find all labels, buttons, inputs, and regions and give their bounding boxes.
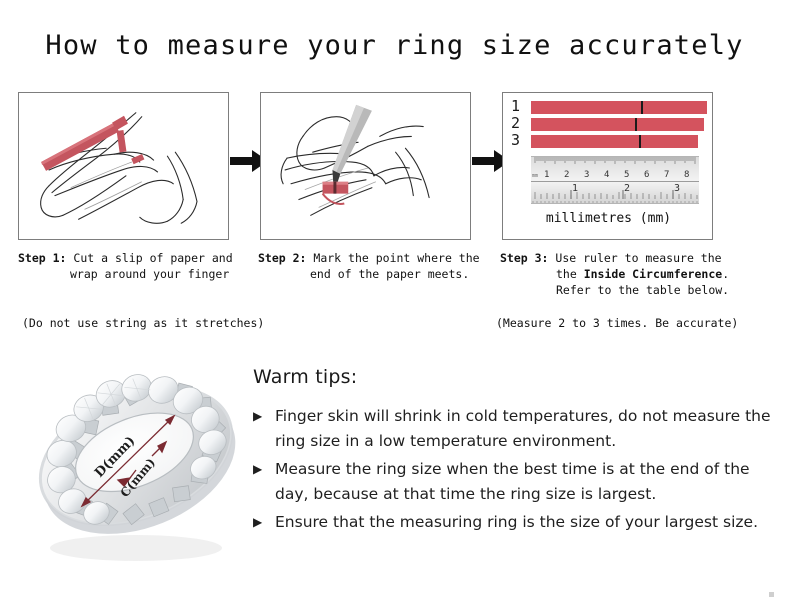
caption-step-1: Step 1: Cut a slip of paper and wrap aro… <box>18 250 253 282</box>
step-3-line2-emphasis: Inside Circumference <box>584 267 722 281</box>
note-step-3: (Measure 2 to 3 times. Be accurate) <box>496 316 738 330</box>
step-1-line1: Cut a slip of paper and <box>73 251 232 265</box>
svg-text:mm: mm <box>532 173 538 179</box>
svg-text:4: 4 <box>604 170 609 180</box>
strip-row: 1 <box>511 101 707 115</box>
tip-item: ▶ Finger skin will shrink in cold temper… <box>253 404 773 454</box>
svg-text:5: 5 <box>624 170 629 180</box>
warm-tips-section: Warm tips: ▶ Finger skin will shrink in … <box>253 366 773 538</box>
step-2-label: Step 2: <box>258 251 306 265</box>
step-3-line2-prefix: the <box>556 267 584 281</box>
bullet-triangle-icon: ▶ <box>253 404 262 429</box>
strip-row: 3 <box>511 135 707 149</box>
panel-step-3: 1 2 3 <box>502 92 713 240</box>
svg-text:1: 1 <box>544 170 549 180</box>
strip-bar <box>531 118 704 131</box>
step-3-line3: Refer to the table below. <box>500 282 780 298</box>
caption-step-3: Step 3: Use ruler to measure the the Ins… <box>500 250 780 298</box>
svg-text:7: 7 <box>664 170 669 180</box>
panel-step-1 <box>18 92 229 240</box>
strip-bar <box>531 101 707 114</box>
tip-text: Ensure that the measuring ring is the si… <box>275 513 758 531</box>
page-title: How to measure your ring size accurately <box>0 30 789 61</box>
tip-item: ▶ Ensure that the measuring ring is the … <box>253 510 773 535</box>
caption-step-2: Step 2: Mark the point where the end of … <box>258 250 493 282</box>
svg-text:2: 2 <box>624 183 630 194</box>
tip-text: Measure the ring size when the best time… <box>275 460 750 503</box>
step-3-line2: the Inside Circumference. <box>500 266 780 282</box>
strip-mark <box>635 118 637 131</box>
panel-step-2 <box>260 92 471 240</box>
strip-row: 2 <box>511 118 707 132</box>
steps-row: 1 2 3 <box>18 92 773 242</box>
ruler-unit-caption: millimetres (mm) <box>503 211 713 226</box>
step-3-label: Step 3: <box>500 251 548 265</box>
tip-item: ▶ Measure the ring size when the best ti… <box>253 457 773 507</box>
step-1-label: Step 1: <box>18 251 66 265</box>
strip-number: 3 <box>511 132 527 148</box>
paper-band-red <box>323 182 349 204</box>
corner-artifact <box>769 592 774 597</box>
step-3-line1: Use ruler to measure the <box>555 251 721 265</box>
strip-number: 2 <box>511 115 527 131</box>
svg-text:2: 2 <box>564 170 569 180</box>
paper-strip-red <box>41 116 144 171</box>
step-2-line2: end of the paper meets. <box>258 266 493 282</box>
ruler-imperial-scale: 123 <box>531 181 699 204</box>
warm-tips-heading: Warm tips: <box>253 366 773 388</box>
svg-text:6: 6 <box>644 170 649 180</box>
step-1-line2: wrap around your finger <box>18 266 253 282</box>
tip-text: Finger skin will shrink in cold temperat… <box>275 407 771 450</box>
eternity-ring-photo: D(mm) C(mm) <box>24 352 250 572</box>
ruler-metric-scale: 123 456 78 mm <box>531 157 699 181</box>
measured-strips-group: 1 2 3 <box>511 101 707 152</box>
strip-number: 1 <box>511 98 527 114</box>
step-2-line1: Mark the point where the <box>313 251 479 265</box>
hand-marking-paper-with-pen-sketch <box>261 93 470 239</box>
note-step-1: (Do not use string as it stretches) <box>22 316 264 330</box>
svg-text:3: 3 <box>674 183 680 194</box>
strip-mark <box>639 135 641 148</box>
bullet-triangle-icon: ▶ <box>253 510 262 535</box>
strip-bar <box>531 135 698 148</box>
step-3-line2-tail: . <box>722 267 729 281</box>
hand-with-paper-strip-sketch <box>19 93 228 239</box>
ruler-graphic: 123 456 78 mm 123 <box>531 156 699 204</box>
bullet-triangle-icon: ▶ <box>253 457 262 482</box>
svg-text:3: 3 <box>584 170 589 180</box>
strip-mark <box>641 101 643 114</box>
svg-text:8: 8 <box>684 170 689 180</box>
